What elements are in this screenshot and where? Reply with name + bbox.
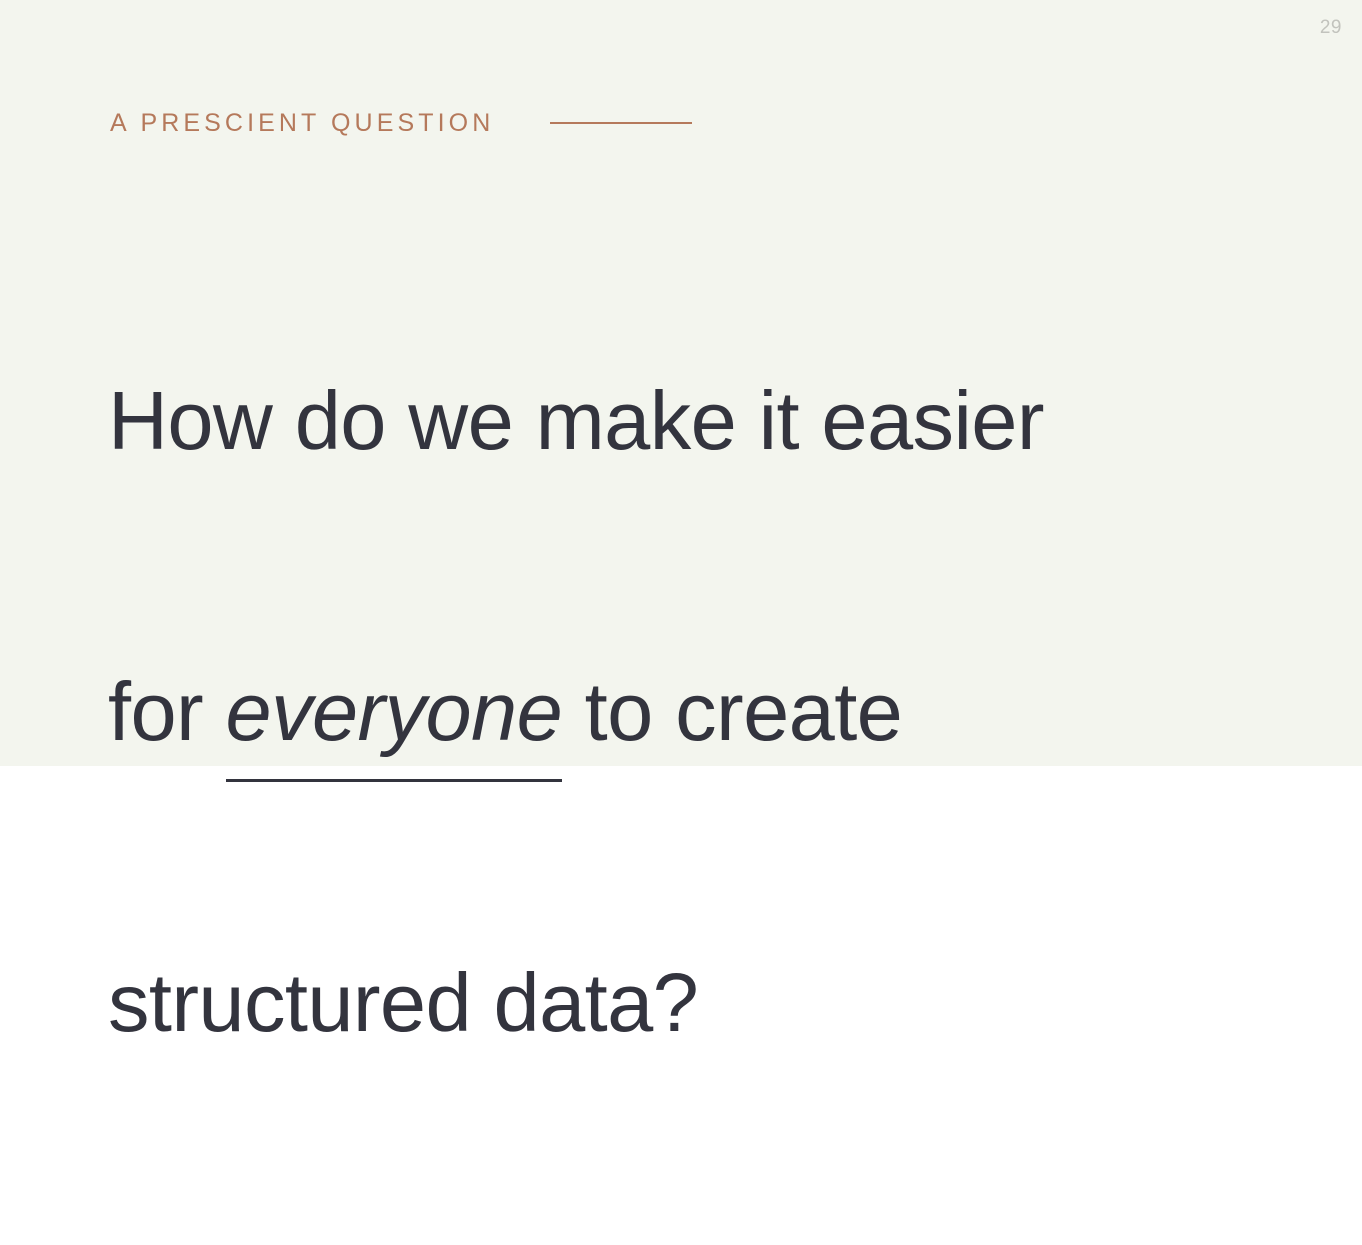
headline-emphasis-everyone: everyone <box>226 665 563 760</box>
slide-canvas: 29 A PRESCIENT QUESTION How do we make i… <box>0 0 1362 766</box>
eyebrow: A PRESCIENT QUESTION <box>110 106 692 140</box>
headline-line-2-suffix: to create <box>562 665 902 758</box>
headline-line-2: for everyone to create <box>108 663 1258 760</box>
eyebrow-label: A PRESCIENT QUESTION <box>110 106 494 140</box>
page-title: How do we make it easier for everyone to… <box>108 178 1258 1245</box>
headline-line-1: How do we make it easier <box>108 372 1258 469</box>
headline-line-2-prefix: for <box>108 665 226 758</box>
headline-line-3: structured data? <box>108 954 1258 1051</box>
eyebrow-rule-divider <box>550 122 692 124</box>
page-number: 29 <box>1320 18 1342 37</box>
